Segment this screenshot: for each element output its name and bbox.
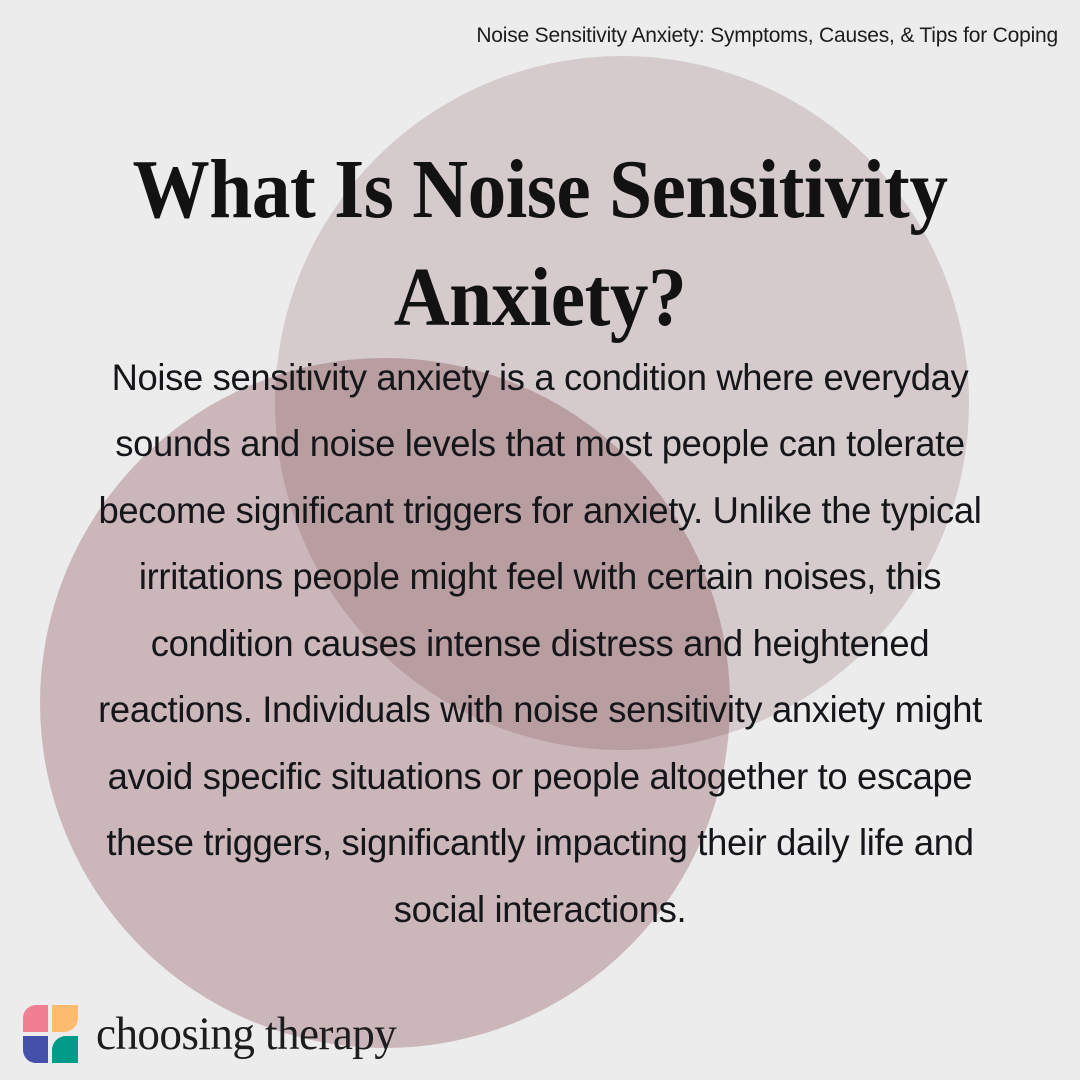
brand-lockup[interactable]: choosing therapy xyxy=(22,1004,409,1064)
card-content: Noise Sensitivity Anxiety: Symptoms, Cau… xyxy=(0,0,1080,1080)
body-paragraph: Noise sensitivity anxiety is a condition… xyxy=(72,344,1007,943)
brand-wordmark: choosing therapy xyxy=(96,1011,396,1058)
social-card-canvas: Noise Sensitivity Anxiety: Symptoms, Cau… xyxy=(0,0,1080,1080)
page-title: What Is Noise Sensitivity Anxiety? xyxy=(98,136,981,351)
choosing-therapy-logo-icon xyxy=(22,1004,79,1064)
article-title-eyebrow: Noise Sensitivity Anxiety: Symptoms, Cau… xyxy=(476,24,1058,48)
